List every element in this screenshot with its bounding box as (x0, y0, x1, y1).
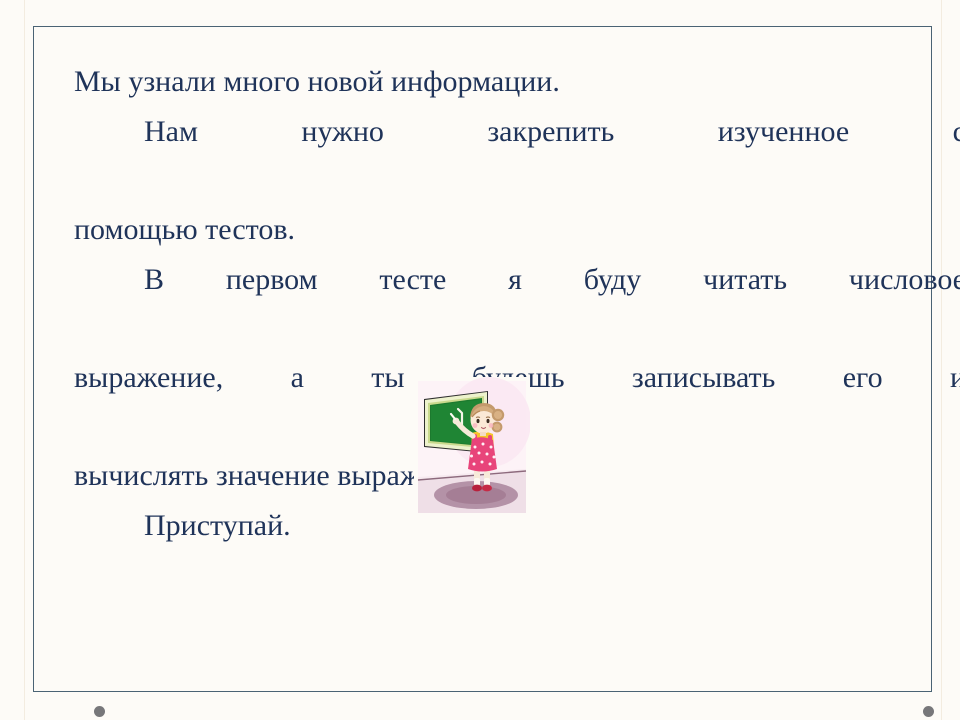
decorative-dot-right (923, 706, 934, 717)
paragraph-2: Нам нужно закрепить изученное с помощью … (74, 107, 960, 254)
slide-root: Мы узнали много новой информации. Нам ну… (0, 0, 960, 720)
slide-content-frame: Мы узнали много новой информации. Нам ну… (33, 26, 932, 692)
paragraph-3-line-1: В первом тесте я буду читать числовое (74, 255, 960, 353)
decorative-dot-left (94, 706, 105, 717)
girl-at-chalkboard-image (414, 377, 530, 517)
paragraph-1-line-1: Мы узнали много новой информации. (74, 57, 960, 106)
paragraph-2-line-2: помощью тестов. (74, 205, 960, 254)
girl-at-chalkboard-icon (414, 377, 530, 517)
paragraph-1: Мы узнали много новой информации. (74, 57, 960, 106)
slide-design-edge-left (24, 0, 25, 720)
paragraph-2-line-1: Нам нужно закрепить изученное с (74, 107, 960, 205)
